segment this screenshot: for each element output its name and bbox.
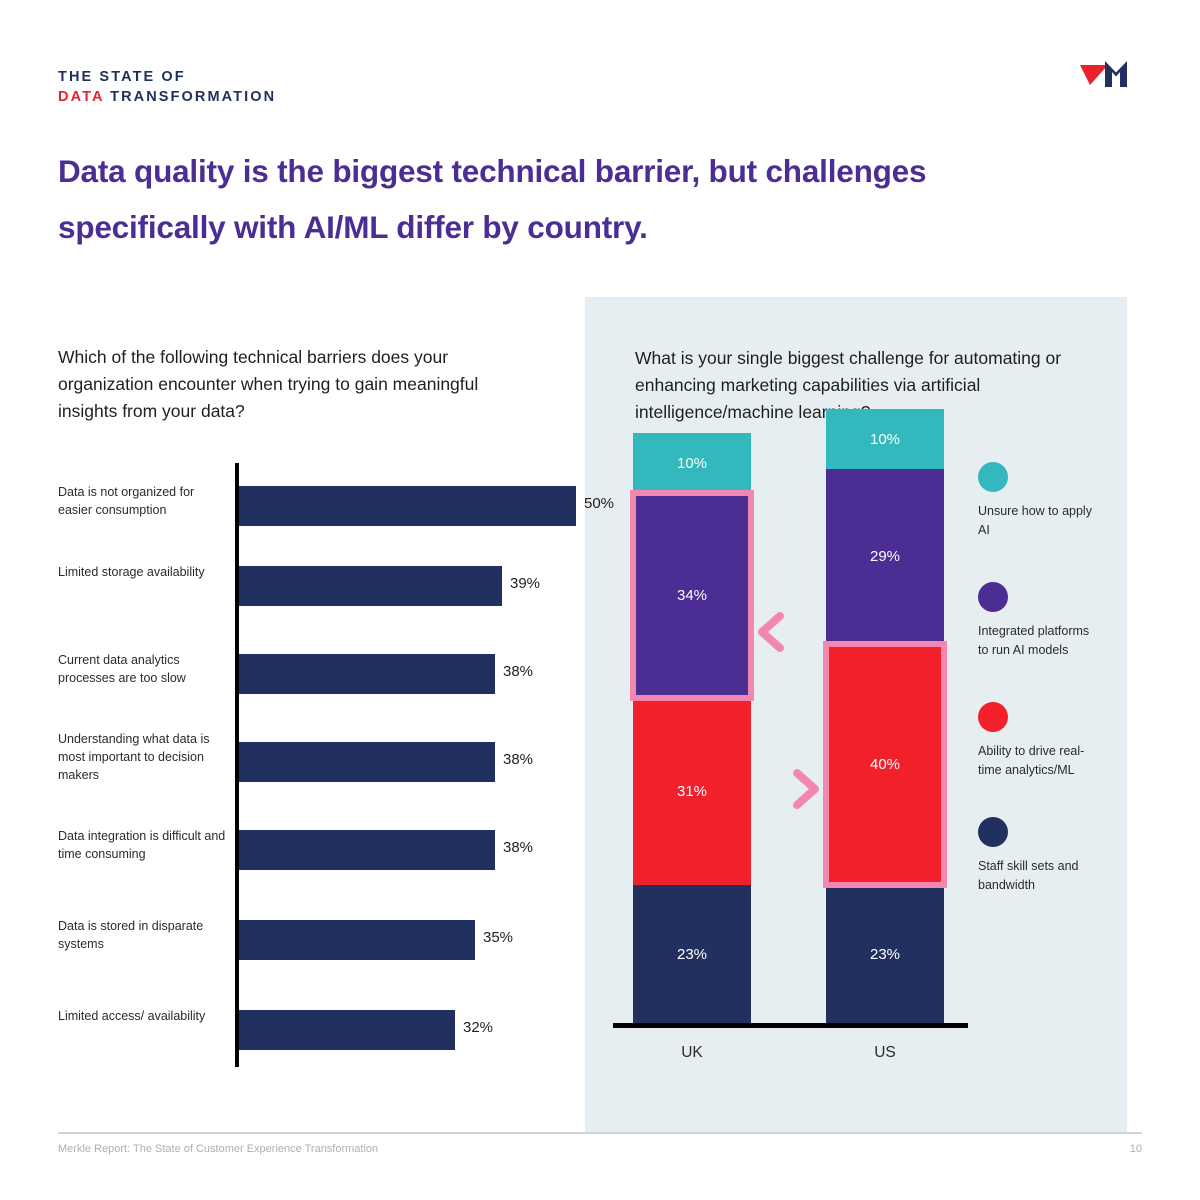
stack-segment: 34% — [633, 493, 751, 698]
footer-divider — [58, 1132, 1142, 1134]
stack-segment: 29% — [826, 469, 944, 644]
barrier-value-label: 32% — [463, 1019, 493, 1036]
barrier-bar — [239, 830, 495, 870]
legend-item[interactable]: Integrated platforms to run AI models — [978, 582, 1096, 660]
report-eyebrow: THE STATE OF DATA TRANSFORMATION — [58, 68, 276, 107]
stack-segment: 40% — [826, 644, 944, 885]
legend-dot-purple — [978, 582, 1008, 612]
stack-segment: 23% — [826, 885, 944, 1023]
eyebrow-rest-word: TRANSFORMATION — [104, 89, 276, 105]
merkle-logo-icon — [1072, 55, 1142, 91]
left-chart-question: Which of the following technical barrier… — [58, 344, 508, 425]
eyebrow-accent-word: DATA — [58, 89, 104, 105]
legend-dot-navy — [978, 817, 1008, 847]
stacked-column-us: 10%29%40%23% — [826, 409, 944, 1023]
legend-item[interactable]: Unsure how to apply AI — [978, 462, 1096, 540]
legend-item-label: Unsure how to apply AI — [978, 502, 1096, 540]
barrier-row: Understanding what data is most importan… — [58, 733, 578, 781]
greater-than-chevron-icon — [786, 767, 826, 811]
barrier-bar — [239, 566, 502, 606]
barrier-row: Limited storage availability39% — [58, 557, 578, 605]
footer-page-number: 10 — [1130, 1143, 1142, 1155]
legend-item[interactable]: Staff skill sets and bandwidth — [978, 817, 1096, 895]
legend-item-label: Integrated platforms to run AI models — [978, 622, 1096, 660]
barrier-label: Limited access/ availability — [58, 1007, 228, 1025]
legend-dot-teal — [978, 462, 1008, 492]
barrier-label: Limited storage availability — [58, 563, 228, 581]
barrier-bar — [239, 920, 475, 960]
stack-segment: 10% — [633, 433, 751, 493]
legend-item-label: Ability to drive real-time analytics/ML — [978, 742, 1096, 780]
barrier-label: Understanding what data is most importan… — [58, 730, 228, 784]
page-title: Data quality is the biggest technical ba… — [58, 143, 1068, 255]
stack-segment-value: 10% — [677, 455, 707, 472]
barrier-value-label: 50% — [584, 495, 614, 512]
legend-item-label: Staff skill sets and bandwidth — [978, 857, 1096, 895]
stack-segment-value: 23% — [870, 946, 900, 963]
barrier-bar — [239, 654, 495, 694]
barrier-row: Data is not organized for easier consump… — [58, 477, 578, 525]
barrier-label: Data is not organized for easier consump… — [58, 483, 228, 519]
barrier-bar — [239, 742, 495, 782]
merkle-logo — [1072, 55, 1142, 91]
stack-segment-value: 29% — [870, 548, 900, 565]
stack-segment: 10% — [826, 409, 944, 469]
stack-segment: 23% — [633, 885, 751, 1023]
legend-item[interactable]: Ability to drive real-time analytics/ML — [978, 702, 1096, 780]
barrier-row: Limited access/ availability32% — [58, 1001, 578, 1049]
barrier-bar — [239, 486, 576, 526]
technical-barriers-bar-chart: Data is not organized for easier consump… — [58, 463, 578, 1067]
barrier-row: Data integration is difficult and time c… — [58, 821, 578, 869]
stack-segment-value: 31% — [677, 783, 707, 800]
less-than-chevron-icon — [751, 610, 791, 654]
barrier-value-label: 35% — [483, 929, 513, 946]
eyebrow-line-2: DATA TRANSFORMATION — [58, 88, 276, 108]
barrier-label: Data integration is difficult and time c… — [58, 827, 228, 863]
stacked-column-uk: 10%34%31%23% — [633, 433, 751, 1023]
legend-dot-red — [978, 702, 1008, 732]
axis-tick-uk: UK — [633, 1044, 751, 1062]
barrier-row: Current data analytics processes are too… — [58, 645, 578, 693]
barrier-value-label: 38% — [503, 839, 533, 856]
stack-segment-value: 40% — [870, 756, 900, 773]
stack-segment-value: 23% — [677, 946, 707, 963]
barrier-value-label: 39% — [510, 575, 540, 592]
stacked-chart-axis — [613, 1023, 968, 1028]
barrier-bar — [239, 1010, 455, 1050]
stack-segment-value: 10% — [870, 431, 900, 448]
stack-segment-value: 34% — [677, 587, 707, 604]
ai-ml-challenge-stacked-chart: 10%34%31%23%10%29%40%23% UKUS — [613, 462, 968, 1076]
barrier-label: Current data analytics processes are too… — [58, 651, 228, 687]
axis-tick-us: US — [826, 1044, 944, 1062]
footer-note: Merkle Report: The State of Customer Exp… — [58, 1143, 378, 1155]
stack-segment: 31% — [633, 698, 751, 885]
barrier-label: Data is stored in disparate systems — [58, 917, 228, 953]
eyebrow-line-1: THE STATE OF — [58, 68, 276, 88]
barrier-value-label: 38% — [503, 751, 533, 768]
barrier-value-label: 38% — [503, 663, 533, 680]
barrier-row: Data is stored in disparate systems35% — [58, 911, 578, 959]
